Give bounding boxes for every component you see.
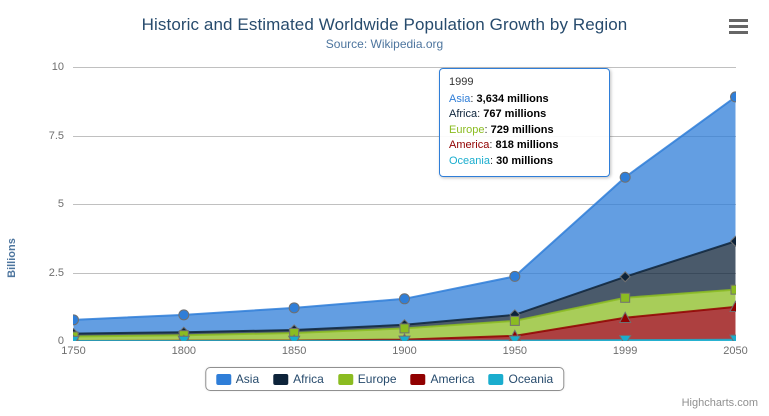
legend-label: Africa (293, 372, 324, 386)
legend-label: Europe (358, 372, 397, 386)
hamburger-bar-3 (729, 31, 748, 34)
chart-subtitle: Source: Wikipedia.org (0, 37, 769, 51)
tooltip-series-name: Africa (449, 108, 477, 120)
point-marker-asia[interactable] (400, 294, 410, 304)
chart-title: Historic and Estimated Worldwide Populat… (0, 15, 769, 35)
x-axis-tick-label: 1850 (264, 345, 324, 357)
x-axis-tick-label: 1900 (375, 345, 435, 357)
x-axis: 1750180018501900195019992050 (73, 345, 736, 363)
credits-label[interactable]: Highcharts.com (682, 397, 758, 409)
legend-label: Oceania (509, 372, 554, 386)
tooltip-header: 1999 (449, 75, 601, 92)
hamburger-bar-1 (729, 19, 748, 22)
tooltip-series-value: 818 millions (495, 139, 558, 151)
chart-svg (73, 67, 736, 341)
tooltip-row: Europe: 729 millions (449, 123, 601, 139)
point-marker-asia[interactable] (289, 303, 299, 313)
tooltip-row: Oceania: 30 millions (449, 154, 601, 170)
tooltip-series-name: America (449, 139, 489, 151)
tooltip-row: Africa: 767 millions (449, 107, 601, 123)
legend-item-europe[interactable]: Europe (338, 372, 397, 386)
hamburger-bar-2 (729, 25, 748, 28)
x-axis-tick-label: 1750 (44, 345, 104, 357)
point-marker-oceania[interactable] (289, 336, 300, 341)
point-marker-asia[interactable] (179, 310, 189, 320)
tooltip-series-name: Asia (449, 93, 470, 105)
tooltip-row: America: 818 millions (449, 138, 601, 154)
x-axis-tick-label: 2050 (706, 345, 766, 357)
legend-item-asia[interactable]: Asia (216, 372, 259, 386)
point-marker-asia[interactable] (620, 172, 630, 182)
legend-swatch-icon (273, 374, 288, 385)
y-axis-tick-label: 10 (6, 61, 64, 73)
point-marker-europe[interactable] (400, 324, 409, 333)
y-axis: Billions 02.557.510 (0, 67, 64, 341)
tooltip-series-value: 729 millions (491, 124, 554, 136)
x-axis-tick-label: 1999 (595, 345, 655, 357)
tooltip-series-name: Europe (449, 124, 484, 136)
plot-area (73, 67, 736, 341)
hamburger-menu-icon[interactable] (727, 18, 749, 36)
legend-swatch-icon (338, 374, 353, 385)
legend-item-america[interactable]: America (411, 372, 475, 386)
legend-item-oceania[interactable]: Oceania (489, 372, 554, 386)
tooltip-row: Asia: 3,634 millions (449, 92, 601, 108)
y-axis-title: Billions (6, 218, 18, 298)
point-marker-europe[interactable] (731, 285, 736, 294)
legend-label: Asia (236, 372, 259, 386)
point-marker-europe[interactable] (510, 316, 519, 325)
point-marker-europe[interactable] (621, 293, 630, 302)
x-axis-tick-label: 1800 (154, 345, 214, 357)
point-marker-asia[interactable] (731, 92, 737, 102)
tooltip-series-name: Oceania (449, 155, 490, 167)
tooltip-series-value: 30 millions (496, 155, 553, 167)
legend-item-africa[interactable]: Africa (273, 372, 324, 386)
x-axis-tick-label: 1950 (485, 345, 545, 357)
legend-label: America (431, 372, 475, 386)
legend-swatch-icon (411, 374, 426, 385)
tooltip: 1999 Asia: 3,634 millionsAfrica: 767 mil… (439, 68, 610, 177)
y-axis-tick-label: 5 (6, 198, 64, 210)
legend-swatch-icon (216, 374, 231, 385)
tooltip-series-value: 767 millions (483, 108, 546, 120)
tooltip-rows: Asia: 3,634 millionsAfrica: 767 millions… (449, 92, 601, 170)
point-marker-oceania[interactable] (178, 336, 189, 341)
y-axis-tick-label: 2.5 (6, 267, 64, 279)
legend-swatch-icon (489, 374, 504, 385)
y-axis-tick-label: 7.5 (6, 130, 64, 142)
point-marker-asia[interactable] (510, 271, 520, 281)
tooltip-series-value: 3,634 millions (477, 93, 549, 105)
point-marker-asia[interactable] (73, 315, 79, 325)
highcharts-container: Historic and Estimated Worldwide Populat… (0, 0, 769, 416)
legend: AsiaAfricaEuropeAmericaOceania (205, 367, 564, 391)
